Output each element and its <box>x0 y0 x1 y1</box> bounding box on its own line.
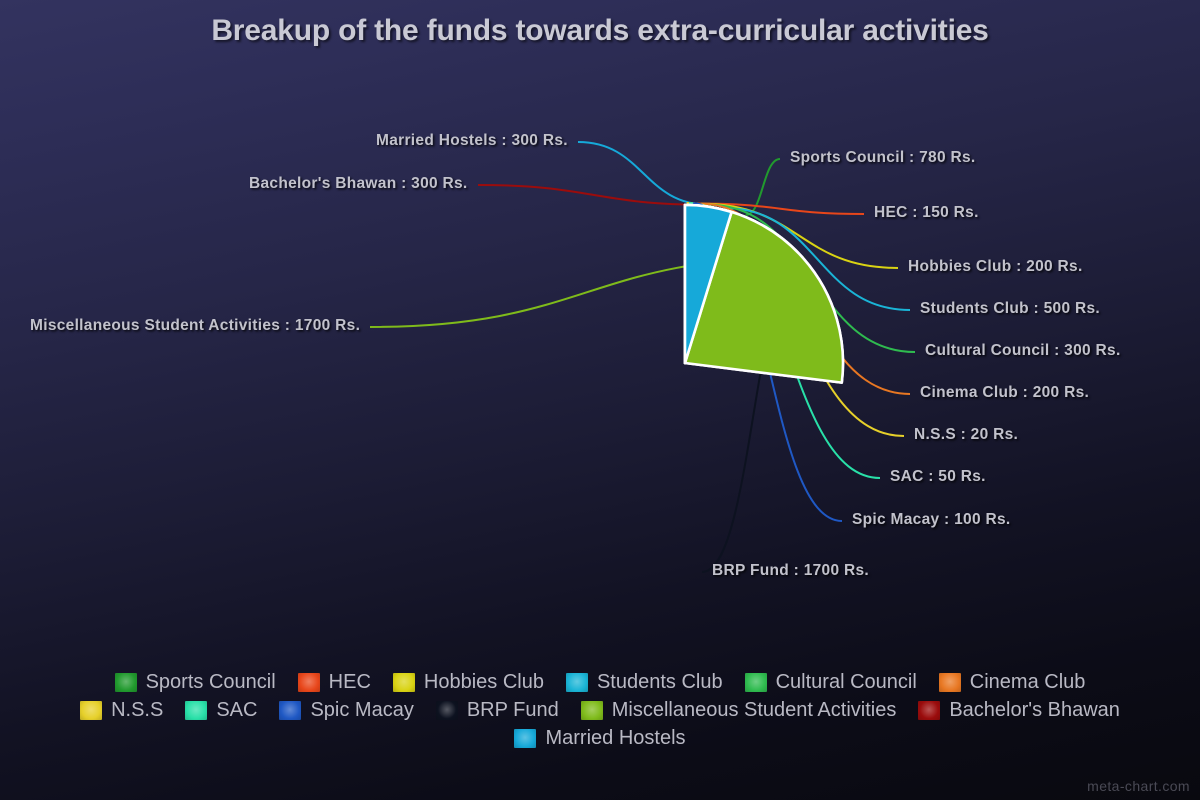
legend-item[interactable]: Sports Council <box>115 668 276 696</box>
legend-item[interactable]: SAC <box>185 696 257 724</box>
callout-label-cinema-club: Cinema Club : 200 Rs. <box>920 384 1089 402</box>
legend-item-label: Married Hostels <box>545 728 685 748</box>
pie-chart-page: Breakup of the funds towards extra-curri… <box>0 0 1200 800</box>
legend-item-label: HEC <box>329 672 371 692</box>
callout-label-married-hostels: Married Hostels : 300 Rs. <box>376 132 568 150</box>
callout-label-nss: N.S.S : 20 Rs. <box>914 426 1018 444</box>
legend-swatch-icon <box>393 673 415 692</box>
legend-swatch-icon <box>436 701 458 720</box>
callout-label-brp-fund: BRP Fund : 1700 Rs. <box>712 562 869 580</box>
legend-swatch-icon <box>279 701 301 720</box>
legend-swatch-icon <box>185 701 207 720</box>
legend-item[interactable]: Hobbies Club <box>393 668 544 696</box>
legend-item[interactable]: Cinema Club <box>939 668 1086 696</box>
callout-label-spic-macay: Spic Macay : 100 Rs. <box>852 511 1011 529</box>
callout-label-cultural-council: Cultural Council : 300 Rs. <box>925 342 1121 360</box>
legend-item[interactable]: Spic Macay <box>279 696 413 724</box>
legend-item[interactable]: Miscellaneous Student Activities <box>581 696 897 724</box>
callout-label-students-club: Students Club : 500 Rs. <box>920 300 1100 318</box>
legend-swatch-icon <box>80 701 102 720</box>
callout-label-hobbies-club: Hobbies Club : 200 Rs. <box>908 258 1083 276</box>
leader-line-bachelors-bhawan <box>478 185 709 205</box>
legend-swatch-icon <box>745 673 767 692</box>
legend-item-label: Miscellaneous Student Activities <box>612 700 897 720</box>
legend-swatch-icon <box>918 701 940 720</box>
legend-item[interactable]: HEC <box>298 668 371 696</box>
legend-item-label: SAC <box>216 700 257 720</box>
legend-item[interactable]: Students Club <box>566 668 723 696</box>
legend-item[interactable]: Married Hostels <box>514 724 685 752</box>
callout-label-hec: HEC : 150 Rs. <box>874 204 979 222</box>
legend-swatch-icon <box>939 673 961 692</box>
callout-label-miscellaneous: Miscellaneous Student Activities : 1700 … <box>30 317 360 335</box>
legend-swatch-icon <box>566 673 588 692</box>
legend-item-label: BRP Fund <box>467 700 559 720</box>
legend-item-label: Bachelor's Bhawan <box>949 700 1120 720</box>
legend-swatch-icon <box>581 701 603 720</box>
chart-legend: Sports CouncilHECHobbies ClubStudents Cl… <box>0 668 1200 752</box>
legend-item[interactable]: BRP Fund <box>436 696 559 724</box>
callout-label-sac: SAC : 50 Rs. <box>890 468 986 486</box>
legend-item-label: Sports Council <box>146 672 276 692</box>
legend-item-label: Students Club <box>597 672 723 692</box>
callout-label-bachelors-bhawan: Bachelor's Bhawan : 300 Rs. <box>249 175 468 193</box>
legend-swatch-icon <box>514 729 536 748</box>
legend-item-label: Hobbies Club <box>424 672 544 692</box>
legend-swatch-icon <box>115 673 137 692</box>
legend-swatch-icon <box>298 673 320 692</box>
legend-item-label: Spic Macay <box>310 700 413 720</box>
legend-item[interactable]: Bachelor's Bhawan <box>918 696 1120 724</box>
legend-item-label: Cultural Council <box>776 672 917 692</box>
callout-label-sports-council: Sports Council : 780 Rs. <box>790 149 976 167</box>
legend-item[interactable]: Cultural Council <box>745 668 917 696</box>
legend-item-label: N.S.S <box>111 700 163 720</box>
pie-slices-group <box>685 205 843 383</box>
watermark: meta-chart.com <box>1087 778 1190 794</box>
legend-item[interactable]: N.S.S <box>80 696 163 724</box>
legend-item-label: Cinema Club <box>970 672 1086 692</box>
